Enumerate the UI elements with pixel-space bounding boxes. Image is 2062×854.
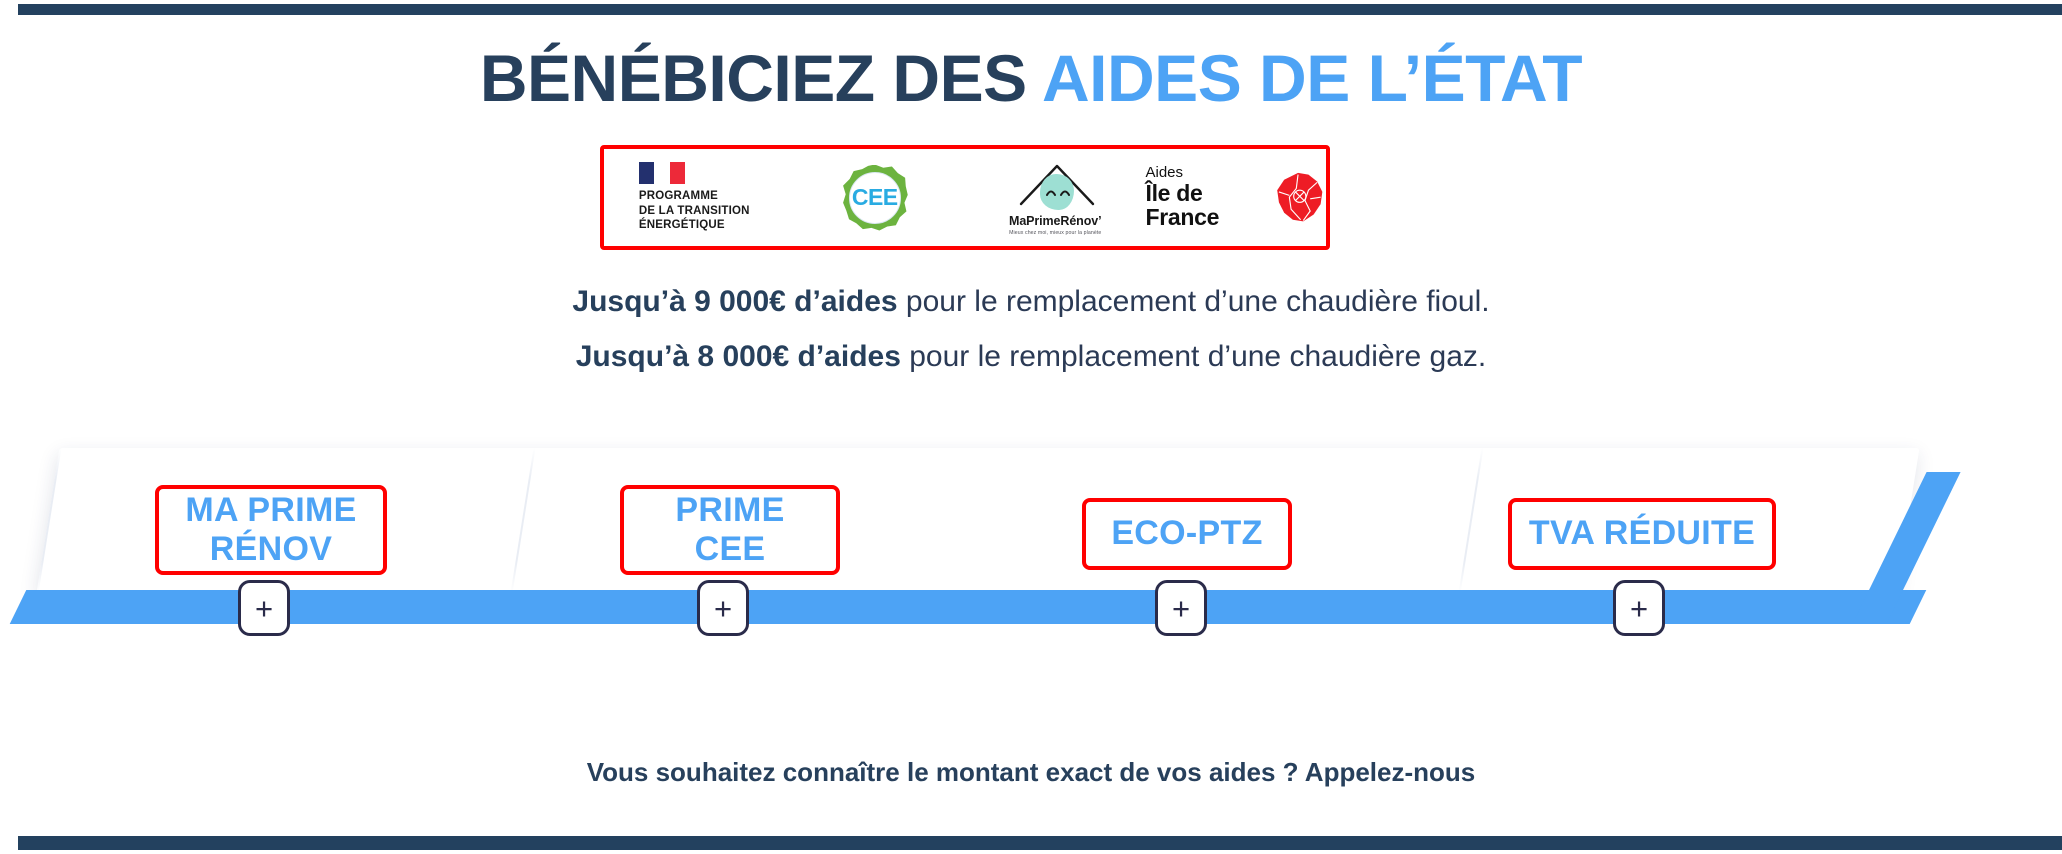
- logo-cee: CEE: [785, 149, 966, 246]
- expand-button-ma-prime-renov[interactable]: +: [238, 580, 290, 636]
- logo-aides-ile-de-france: Aides Île de France: [1146, 149, 1327, 246]
- aid-box-tva-reduite[interactable]: TVA RÉDUITE: [1508, 498, 1776, 570]
- idf-label-aides: Aides: [1146, 165, 1265, 181]
- logo-programme-transition-energetique: PROGRAMME DE LA TRANSITION ÉNERGÉTIQUE: [604, 149, 785, 246]
- aid-box-eco-ptz[interactable]: ECO-PTZ: [1082, 498, 1292, 570]
- plus-icon: +: [714, 593, 732, 624]
- ile-de-france-map-icon: [1272, 167, 1326, 229]
- card-divider-2: [37, 448, 62, 593]
- page-title-light-part: AIDES DE L’ÉTAT: [1042, 41, 1582, 115]
- expand-button-tva-reduite[interactable]: +: [1613, 580, 1665, 636]
- call-to-action-text: Vous souhaitez connaître le montant exac…: [0, 757, 2062, 788]
- subtitle-gaz-amount: Jusqu’à 8 000€ d’aides: [576, 340, 901, 373]
- plus-icon: +: [255, 593, 273, 624]
- cee-label: CEE: [852, 184, 898, 211]
- subtitle-line-fioul: Jusqu’à 9 000€ d’aides pour le remplacem…: [0, 285, 2062, 319]
- aid-label-prime-cee-line2: CEE: [695, 530, 766, 568]
- partner-logos-strip: PROGRAMME DE LA TRANSITION ÉNERGÉTIQUE C…: [600, 145, 1330, 250]
- expand-button-prime-cee[interactable]: +: [697, 580, 749, 636]
- french-flag-icon: [639, 162, 685, 184]
- logo-programme-label: PROGRAMME DE LA TRANSITION ÉNERGÉTIQUE: [639, 189, 750, 232]
- aid-label-ma-prime-renov-line2: RÉNOV: [210, 530, 332, 568]
- plus-icon: +: [1630, 593, 1648, 624]
- aid-label-prime-cee-line1: PRIME: [675, 491, 784, 529]
- aid-label-ma-prime-renov-line1: MA PRIME: [185, 491, 356, 529]
- cee-badge-icon: CEE: [842, 165, 908, 231]
- subtitle-line-gaz: Jusqu’à 8 000€ d’aides pour le remplacem…: [0, 340, 2062, 374]
- idf-label-region: Île de France: [1146, 181, 1265, 229]
- maprimerenov-tagline: Mieux chez moi, mieux pour la planète: [1009, 230, 1101, 236]
- bottom-divider-bar: [18, 836, 2062, 850]
- aid-label-tva-reduite: TVA RÉDUITE: [1529, 514, 1755, 553]
- subtitle-fioul-amount: Jusqu’à 9 000€ d’aides: [572, 285, 897, 318]
- expand-button-eco-ptz[interactable]: +: [1155, 580, 1207, 636]
- logo-maprimerenov: MaPrimeRénov’ Mieux chez moi, mieux pour…: [965, 149, 1146, 246]
- aids-carousel: MA PRIME RÉNOV PRIME CEE ECO-PTZ TVA RÉD…: [0, 440, 2062, 665]
- subtitle-gaz-rest: pour le remplacement d’une chaudière gaz…: [901, 340, 1486, 373]
- card-divider-3: [1459, 448, 1484, 593]
- house-roof-icon: [1013, 160, 1097, 210]
- top-divider-bar: [18, 4, 2062, 15]
- page-title-dark-part: BÉNÉBICIEZ DES: [480, 41, 1027, 115]
- aid-box-ma-prime-renov[interactable]: MA PRIME RÉNOV: [155, 485, 387, 575]
- maprimerenov-label: MaPrimeRénov’: [1009, 214, 1101, 228]
- aid-box-prime-cee[interactable]: PRIME CEE: [620, 485, 840, 575]
- plus-icon: +: [1172, 593, 1190, 624]
- card-divider-1: [511, 448, 536, 593]
- subtitle-fioul-rest: pour le remplacement d’une chaudière fio…: [898, 285, 1490, 318]
- page-title: BÉNÉBICIEZ DES AIDES DE L’ÉTAT: [0, 44, 2062, 113]
- aid-label-eco-ptz: ECO-PTZ: [1111, 514, 1262, 553]
